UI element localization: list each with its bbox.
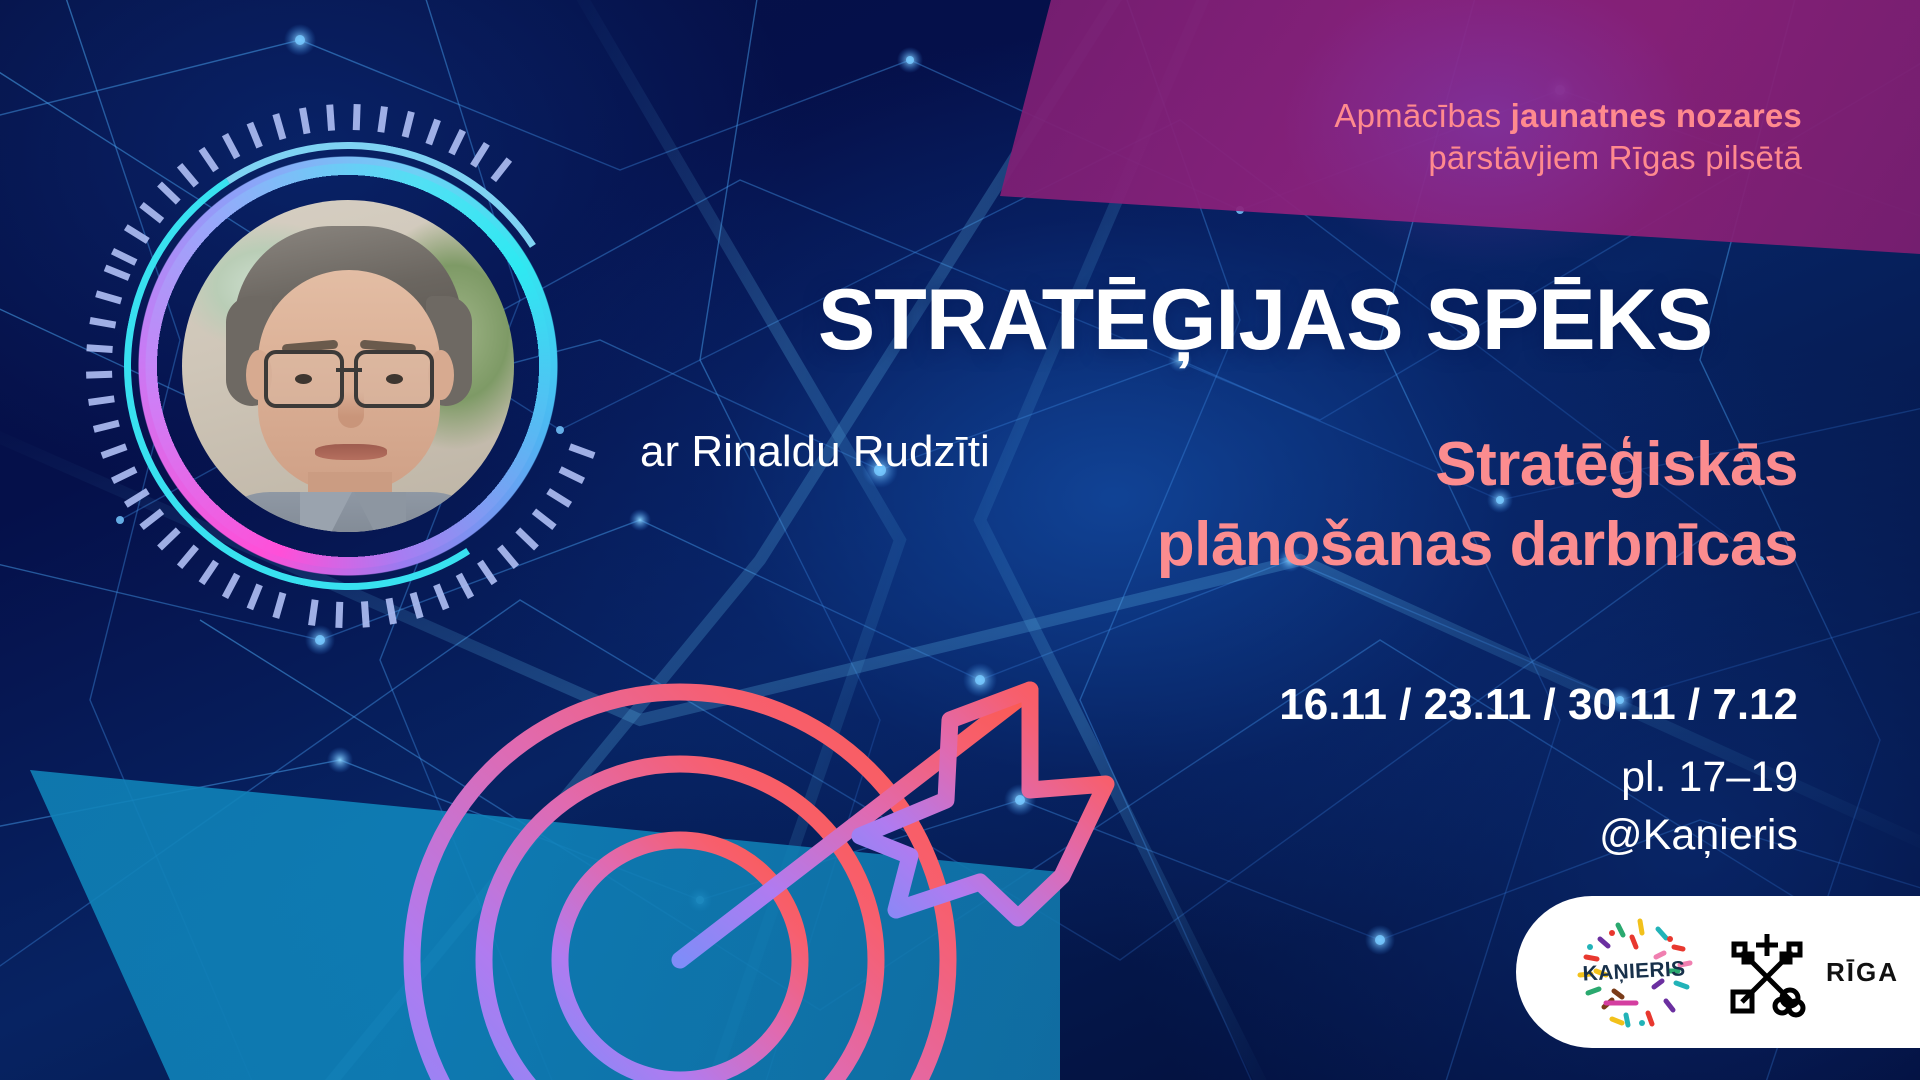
photo-lens-right xyxy=(354,350,434,408)
logo-pill: KAŅIERIS RĪGA xyxy=(1516,896,1920,1048)
subtitle-line2: plānošanas darbnīcas xyxy=(798,505,1798,585)
kanieris-confetti-icon: KAŅIERIS xyxy=(1570,913,1698,1031)
event-venue: @Kaņieris xyxy=(898,806,1798,864)
event-time: pl. 17–19 xyxy=(898,748,1798,806)
photo-eye-right xyxy=(386,374,403,384)
subtitle-line1: Stratēģiskās xyxy=(798,425,1798,505)
riga-crossed-keys-icon xyxy=(1724,926,1810,1018)
kicker-line1-bold: jaunatnes nozares xyxy=(1511,97,1802,134)
photo-mouth xyxy=(315,444,387,460)
event-dates: 16.11 / 23.11 / 30.11 / 7.12 xyxy=(898,678,1798,732)
photo-eye-left xyxy=(295,374,312,384)
photo-glasses xyxy=(264,350,434,402)
page-title: STRATĒĢIJAS SPĒKS xyxy=(700,272,1830,368)
kicker-line2: pārstāvjiem Rīgas pilsētā xyxy=(1102,137,1802,179)
subtitle: Stratēģiskās plānošanas darbnīcas xyxy=(798,425,1798,585)
riga-logo-text: RĪGA xyxy=(1826,957,1899,988)
photo-glasses-bridge xyxy=(336,368,362,372)
photo-shirt xyxy=(200,492,500,532)
kicker-line1-plain: Apmācības xyxy=(1334,97,1510,134)
speaker-photo xyxy=(182,200,514,532)
event-poster: Apmācības jaunatnes nozares pārstāvjiem … xyxy=(0,0,1920,1080)
event-time-venue: pl. 17–19 @Kaņieris xyxy=(898,748,1798,864)
speaker-portrait xyxy=(78,96,618,636)
photo-lens-left xyxy=(264,350,344,408)
kicker-text: Apmācības jaunatnes nozares pārstāvjiem … xyxy=(1102,95,1802,179)
riga-logo: RĪGA xyxy=(1724,926,1899,1018)
